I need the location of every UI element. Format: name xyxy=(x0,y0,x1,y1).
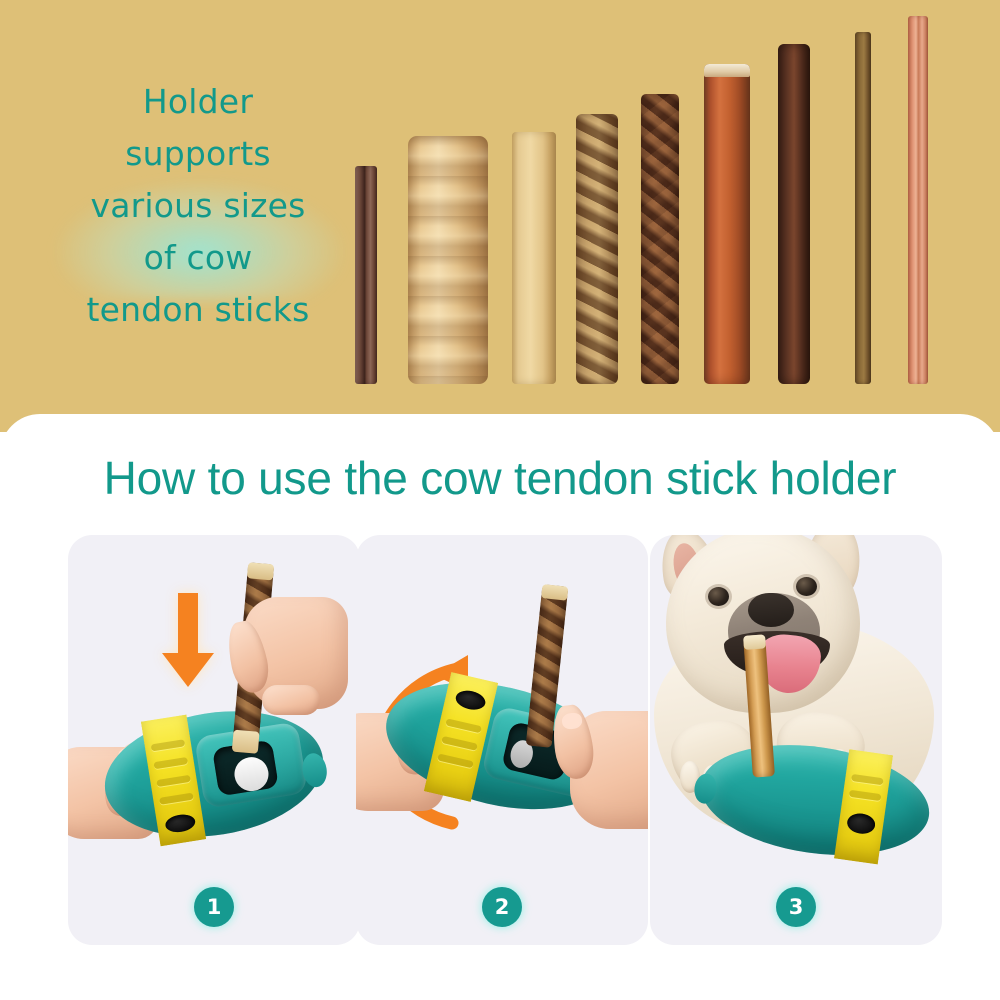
tendon-stick-dark-curved-stick xyxy=(778,44,810,384)
tendon-stick-thin-dark-twin-strip xyxy=(355,166,377,384)
dog-eye-left xyxy=(708,587,729,606)
tendon-stick-braided-stick xyxy=(641,94,679,384)
tendon-stick-knobbly-chunky-roll xyxy=(408,136,488,384)
tendon-stick-twisted-dark-stick xyxy=(576,114,618,384)
step-card-2[interactable]: 2 xyxy=(356,535,648,945)
hero-section: Holder supports various sizes of cow ten… xyxy=(0,0,1000,432)
stick-tip xyxy=(541,584,568,601)
how-to-section: How to use the cow tendon stick holder xyxy=(0,414,1000,1000)
stick-tip xyxy=(232,730,260,754)
step-badge: 2 xyxy=(482,887,522,927)
steps-row: 1 xyxy=(0,535,1000,947)
step-badge: 3 xyxy=(776,887,816,927)
step-badge: 1 xyxy=(194,887,234,927)
dog-eye-right xyxy=(796,577,817,596)
tendon-stick-flat-tan-slab xyxy=(512,132,556,384)
stick-tip xyxy=(743,634,766,650)
tendon-stick-thick-reddish-bully xyxy=(704,64,750,384)
step-card-3[interactable]: 3 xyxy=(650,535,942,945)
dog-nose xyxy=(748,593,794,627)
tendon-stick-thin-salmon-pink-stick xyxy=(908,16,928,384)
hero-headline: Holder supports various sizes of cow ten… xyxy=(48,76,348,336)
finger xyxy=(262,685,320,715)
step-card-1[interactable]: 1 xyxy=(68,535,360,945)
holder-toy xyxy=(96,697,332,852)
toy-inner-disc xyxy=(232,755,271,794)
tendon-stick-thin-olive-brown-stick xyxy=(855,32,871,384)
page-title: How to use the cow tendon stick holder xyxy=(0,452,1000,504)
down-arrow-icon xyxy=(160,593,216,687)
stick-tip xyxy=(247,562,274,580)
infographic-page: Holder supports various sizes of cow ten… xyxy=(0,0,1000,1000)
